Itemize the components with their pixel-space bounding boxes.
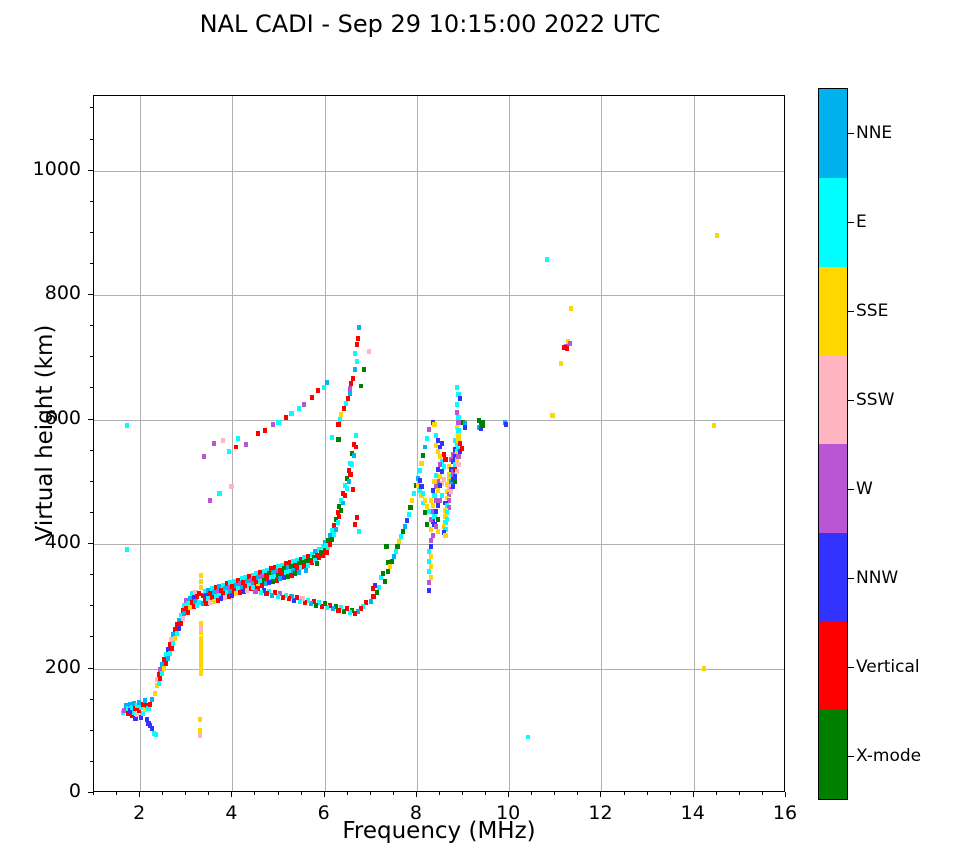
data-point [324,550,328,555]
x-axis-tick [531,792,532,795]
x-axis-tick [762,792,763,795]
data-point [436,503,440,508]
y-axis-tick [88,419,93,420]
data-point [432,479,436,484]
data-point [386,569,390,574]
x-axis-tick [231,792,232,797]
x-axis-tick [716,792,717,795]
y-axis-tick [90,481,93,482]
gridline-vertical [325,96,326,791]
x-axis-tick [462,792,463,795]
colorbar-segment-sse[interactable] [819,267,847,356]
colorbar-tick [848,400,854,401]
data-point [449,489,453,494]
x-axis-tick [254,792,255,795]
x-axis-tick [347,792,348,795]
colorbar-label-w: W [856,479,873,499]
data-point [351,487,355,492]
data-point [348,386,352,391]
data-point [150,697,154,702]
data-point [350,462,354,467]
data-point [212,441,216,446]
data-point [339,508,343,513]
data-point [354,445,358,450]
data-point [440,493,444,498]
colorbar-segment-ssw[interactable] [819,355,847,444]
gridline-horizontal [94,295,784,296]
data-point [199,573,203,578]
data-point [322,385,326,390]
y-axis-tick-label: 200 [11,656,81,678]
y-axis-tick [88,294,93,295]
data-point [157,681,161,686]
y-axis-label: Virtual height (km) [32,243,58,623]
x-axis-tick [785,792,786,797]
data-point [181,616,185,621]
data-point [284,415,288,420]
data-point [394,549,398,554]
data-point [346,396,350,401]
y-axis-tick-label: 0 [11,780,81,802]
data-point [355,359,359,364]
data-point [438,498,442,503]
data-point [263,428,267,433]
data-point [154,732,158,737]
data-point [367,349,371,354]
data-point [162,666,166,671]
data-point [276,420,280,425]
colorbar-tick [848,133,854,134]
data-point [392,554,396,559]
colorbar-tick [848,667,854,668]
data-point [408,505,412,510]
data-point [436,517,440,522]
colorbar-segment-nnw[interactable] [819,533,847,622]
colorbar-segment-nne[interactable] [819,89,847,178]
data-point [390,559,394,564]
data-point [436,488,440,493]
data-point [418,478,422,483]
y-axis-tick [90,232,93,233]
data-point [217,491,221,496]
gridline-horizontal [94,420,784,421]
data-point [341,501,345,506]
data-point [316,388,320,393]
data-point [384,544,388,549]
x-axis-tick [739,792,740,795]
x-axis-tick [647,792,648,795]
data-point [355,515,359,520]
gridline-vertical [140,96,141,791]
y-axis-tick [90,574,93,575]
colorbar-tick [848,578,854,579]
data-point [356,336,360,341]
y-axis-tick [90,450,93,451]
colorbar-segment-vertical[interactable] [819,622,847,711]
data-point [504,422,508,427]
colorbar-label-vertical: Vertical [856,657,920,677]
data-point [712,423,716,428]
data-point [463,425,467,430]
data-point [418,468,422,473]
data-point [480,423,484,428]
data-point [362,367,366,372]
data-point [352,453,356,458]
data-point [455,385,459,390]
data-point [345,486,349,491]
data-point [208,498,212,503]
y-axis-tick [90,636,93,637]
data-point [353,351,357,356]
data-point [160,671,164,676]
data-point [227,449,231,454]
data-point [355,342,359,347]
data-point [199,626,203,631]
data-point [431,503,435,508]
data-point [381,571,385,576]
data-point [401,529,405,534]
y-axis-tick-label: 1000 [11,158,81,180]
data-point [125,547,129,552]
data-point [357,325,361,330]
data-point [460,446,464,451]
gridline-horizontal [94,544,784,545]
data-point [436,529,440,534]
y-axis-tick [90,605,93,606]
data-point [421,453,425,458]
colorbar-segment-e[interactable] [819,178,847,267]
data-point [425,436,429,441]
y-axis-tick [90,761,93,762]
data-point [440,441,444,446]
colorbar-tick [848,222,854,223]
x-axis-tick [324,792,325,797]
x-axis-tick [439,792,440,795]
data-point [347,479,351,484]
data-point [421,491,425,496]
data-point [336,437,340,442]
x-axis-tick [162,792,163,795]
colorbar-label-nne: NNE [856,123,892,143]
y-axis-tick [90,512,93,513]
data-point [177,626,181,631]
data-point [244,442,248,447]
data-point [397,539,401,544]
data-point [186,610,190,615]
data-point [325,380,329,385]
data-point [410,498,414,503]
gridline-vertical [232,96,233,791]
data-point [336,422,340,427]
data-point [419,484,423,489]
colorbar-label-sse: SSE [856,301,888,321]
y-axis-tick [90,325,93,326]
data-point [148,702,152,707]
data-point [559,361,563,366]
data-point [425,504,429,509]
data-point [297,406,301,411]
data-point [336,520,340,525]
data-point [702,666,706,671]
data-point [199,579,203,584]
data-point [310,395,314,400]
colorbar-tick [848,311,854,312]
x-axis-tick [485,792,486,795]
y-axis-tick [90,387,93,388]
data-point [456,462,460,467]
data-point [297,570,301,575]
x-axis-tick [301,792,302,795]
data-point [198,733,202,738]
x-axis-tick [393,792,394,795]
data-point [271,422,275,427]
y-axis-tick [90,139,93,140]
data-point [199,621,203,626]
colorbar-tick [848,489,854,490]
data-point [383,579,387,584]
data-point [289,411,293,416]
data-point [434,433,438,438]
data-point [357,529,361,534]
data-point [419,461,423,466]
x-axis-tick [93,792,94,795]
data-point [164,661,168,666]
colorbar-label-nnw: NNW [856,568,898,588]
data-point [377,585,381,590]
data-point [412,491,416,496]
data-point [353,522,357,527]
data-point [315,561,319,566]
data-point [348,391,352,396]
data-point [395,544,399,549]
data-point [458,396,462,401]
data-point [388,564,392,569]
colorbar-label-ssw: SSW [856,390,894,410]
data-point [199,671,203,676]
data-point [715,233,719,238]
data-point [438,462,442,467]
data-point [125,423,129,428]
data-point [399,534,403,539]
data-point [443,457,447,462]
data-point [427,569,431,574]
data-point [455,402,459,407]
y-axis-tick [90,263,93,264]
data-point [545,257,549,262]
data-point [166,656,170,661]
y-axis-tick [90,730,93,731]
data-point [339,412,343,417]
data-point [344,401,348,406]
data-point [330,537,334,542]
data-point [349,381,353,386]
data-point [153,691,157,696]
colorbar-label-e: E [856,212,867,232]
data-point [359,384,363,389]
y-axis-tick [90,356,93,357]
data-point [171,641,175,646]
x-axis-tick [693,792,694,797]
data-point [304,568,308,573]
data-point [436,467,440,472]
data-point [343,493,347,498]
data-point [438,483,442,488]
data-point [251,585,255,590]
x-axis-tick [208,792,209,795]
gridline-horizontal [94,171,784,172]
data-point [349,472,353,477]
data-point [403,524,407,529]
ionogram-figure: NAL CADI - Sep 29 10:15:00 2022 UTC 2468… [0,0,958,857]
data-point [168,651,172,656]
x-axis-tick [624,792,625,795]
data-point [407,512,411,517]
y-axis-tick [88,668,93,669]
y-axis-tick [90,201,93,202]
gridline-vertical [694,96,695,791]
colorbar[interactable] [818,88,848,800]
gridline-vertical [509,96,510,791]
data-point [302,402,306,407]
colorbar-segment-x-mode[interactable] [819,710,847,799]
data-point [434,509,438,514]
x-axis-tick [278,792,279,795]
data-point [371,586,375,591]
data-point [369,599,373,604]
data-point [337,514,341,519]
data-point [342,406,346,411]
data-point [432,422,436,427]
data-point [328,542,332,547]
data-point [429,498,433,503]
data-point [169,646,173,651]
x-axis-tick [370,792,371,795]
x-axis-tick [554,792,555,795]
data-point [234,445,238,450]
data-point [434,473,438,478]
data-point [423,445,427,450]
colorbar-label-x-mode: X-mode [856,746,921,766]
data-point [429,538,433,543]
data-point [353,367,357,372]
data-point [405,518,409,523]
y-axis-tick [88,792,93,793]
data-point [256,431,260,436]
data-point [427,427,431,432]
x-axis-tick [139,792,140,797]
data-point [202,454,206,459]
data-point [351,376,355,381]
colorbar-segment-w[interactable] [819,444,847,533]
page-title: NAL CADI - Sep 29 10:15:00 2022 UTC [0,10,860,38]
y-axis-tick [90,107,93,108]
x-axis-tick [416,792,417,797]
gridline-horizontal [94,669,784,670]
data-point [354,433,358,438]
data-point [158,676,162,681]
data-point [332,532,336,537]
plot-area[interactable] [93,95,785,792]
data-point [330,435,334,440]
gridline-vertical [417,96,418,791]
data-point [198,717,202,722]
data-point [334,527,338,532]
data-point [427,580,431,585]
data-point [221,438,225,443]
data-point [569,306,573,311]
data-point [179,621,183,626]
data-point [429,527,433,532]
data-point [565,346,569,351]
x-axis-tick [508,792,509,797]
colorbar-tick [848,756,854,757]
data-point [526,735,530,740]
data-point [173,636,177,641]
data-point [550,413,554,418]
y-axis-tick [88,543,93,544]
y-axis-tick [90,699,93,700]
x-axis-tick [600,792,601,797]
data-point [229,484,233,489]
gridline-vertical [601,96,602,791]
x-axis-tick [577,792,578,795]
data-point [443,533,447,538]
x-axis-tick [670,792,671,795]
x-axis-tick [116,792,117,795]
data-point [338,417,342,422]
data-point [236,436,240,441]
data-point [175,631,179,636]
x-axis-label: Frequency (MHz) [93,818,785,844]
data-point [431,533,435,538]
y-axis-tick [88,170,93,171]
x-axis-tick [185,792,186,795]
data-point [427,588,431,593]
data-point [375,590,379,595]
data-point [423,498,427,503]
